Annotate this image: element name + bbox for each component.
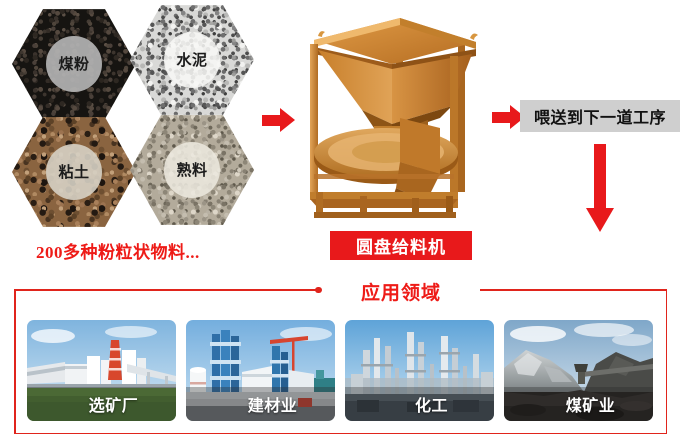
materials-hex-cluster: 煤粉 水泥 粘土 熟料 [0, 0, 262, 232]
application-cards: 选矿厂 [27, 320, 653, 421]
material-label-clinker: 熟料 [164, 142, 220, 198]
materials-caption: 200多种粉粒状物料... [36, 238, 200, 263]
material-label-clay: 粘土 [46, 144, 102, 200]
material-label-cement: 水泥 [164, 32, 220, 88]
application-card-building-materials[interactable]: 建材业 [186, 320, 335, 421]
application-card-label: 煤矿业 [504, 387, 653, 421]
process-diagram: 煤粉 水泥 粘土 熟料 200多种粉粒状物料... [0, 0, 680, 446]
next-process-chip: 喂送到下一道工序 [520, 100, 680, 132]
application-area-title: 应用领域 [361, 278, 441, 305]
application-card-chemical[interactable]: 化工 [345, 320, 494, 421]
material-hex-coal[interactable]: 煤粉 [12, 8, 136, 120]
arrow-head [280, 108, 295, 132]
application-card-coal-mining[interactable]: 煤矿业 [504, 320, 653, 421]
application-card-label: 选矿厂 [27, 387, 176, 421]
arrow-shaft [492, 112, 512, 123]
panel-connector-dot [315, 287, 322, 294]
material-hex-clay[interactable]: 粘土 [12, 116, 136, 228]
arrow-down-icon [586, 144, 614, 232]
material-hex-cement[interactable]: 水泥 [130, 4, 254, 116]
panel-border-right [666, 289, 668, 434]
material-hex-clinker[interactable]: 熟料 [130, 114, 254, 226]
application-card-label: 建材业 [186, 387, 335, 421]
machine-label: 圆盘给料机 [330, 231, 472, 260]
material-label-coal: 煤粉 [46, 36, 102, 92]
arrow-shaft-vertical [594, 144, 606, 210]
panel-border-bottom [14, 433, 667, 435]
panel-border-top-left [14, 289, 318, 291]
arrow-shaft [262, 115, 282, 126]
panel-border-top-right [480, 289, 667, 291]
application-card-label: 化工 [345, 387, 494, 421]
application-card-ore-dressing[interactable]: 选矿厂 [27, 320, 176, 421]
arrow-right-icon [262, 108, 295, 133]
disc-feeder-illustration [300, 6, 490, 226]
panel-border-left [14, 289, 16, 434]
arrow-head-down [586, 208, 614, 232]
